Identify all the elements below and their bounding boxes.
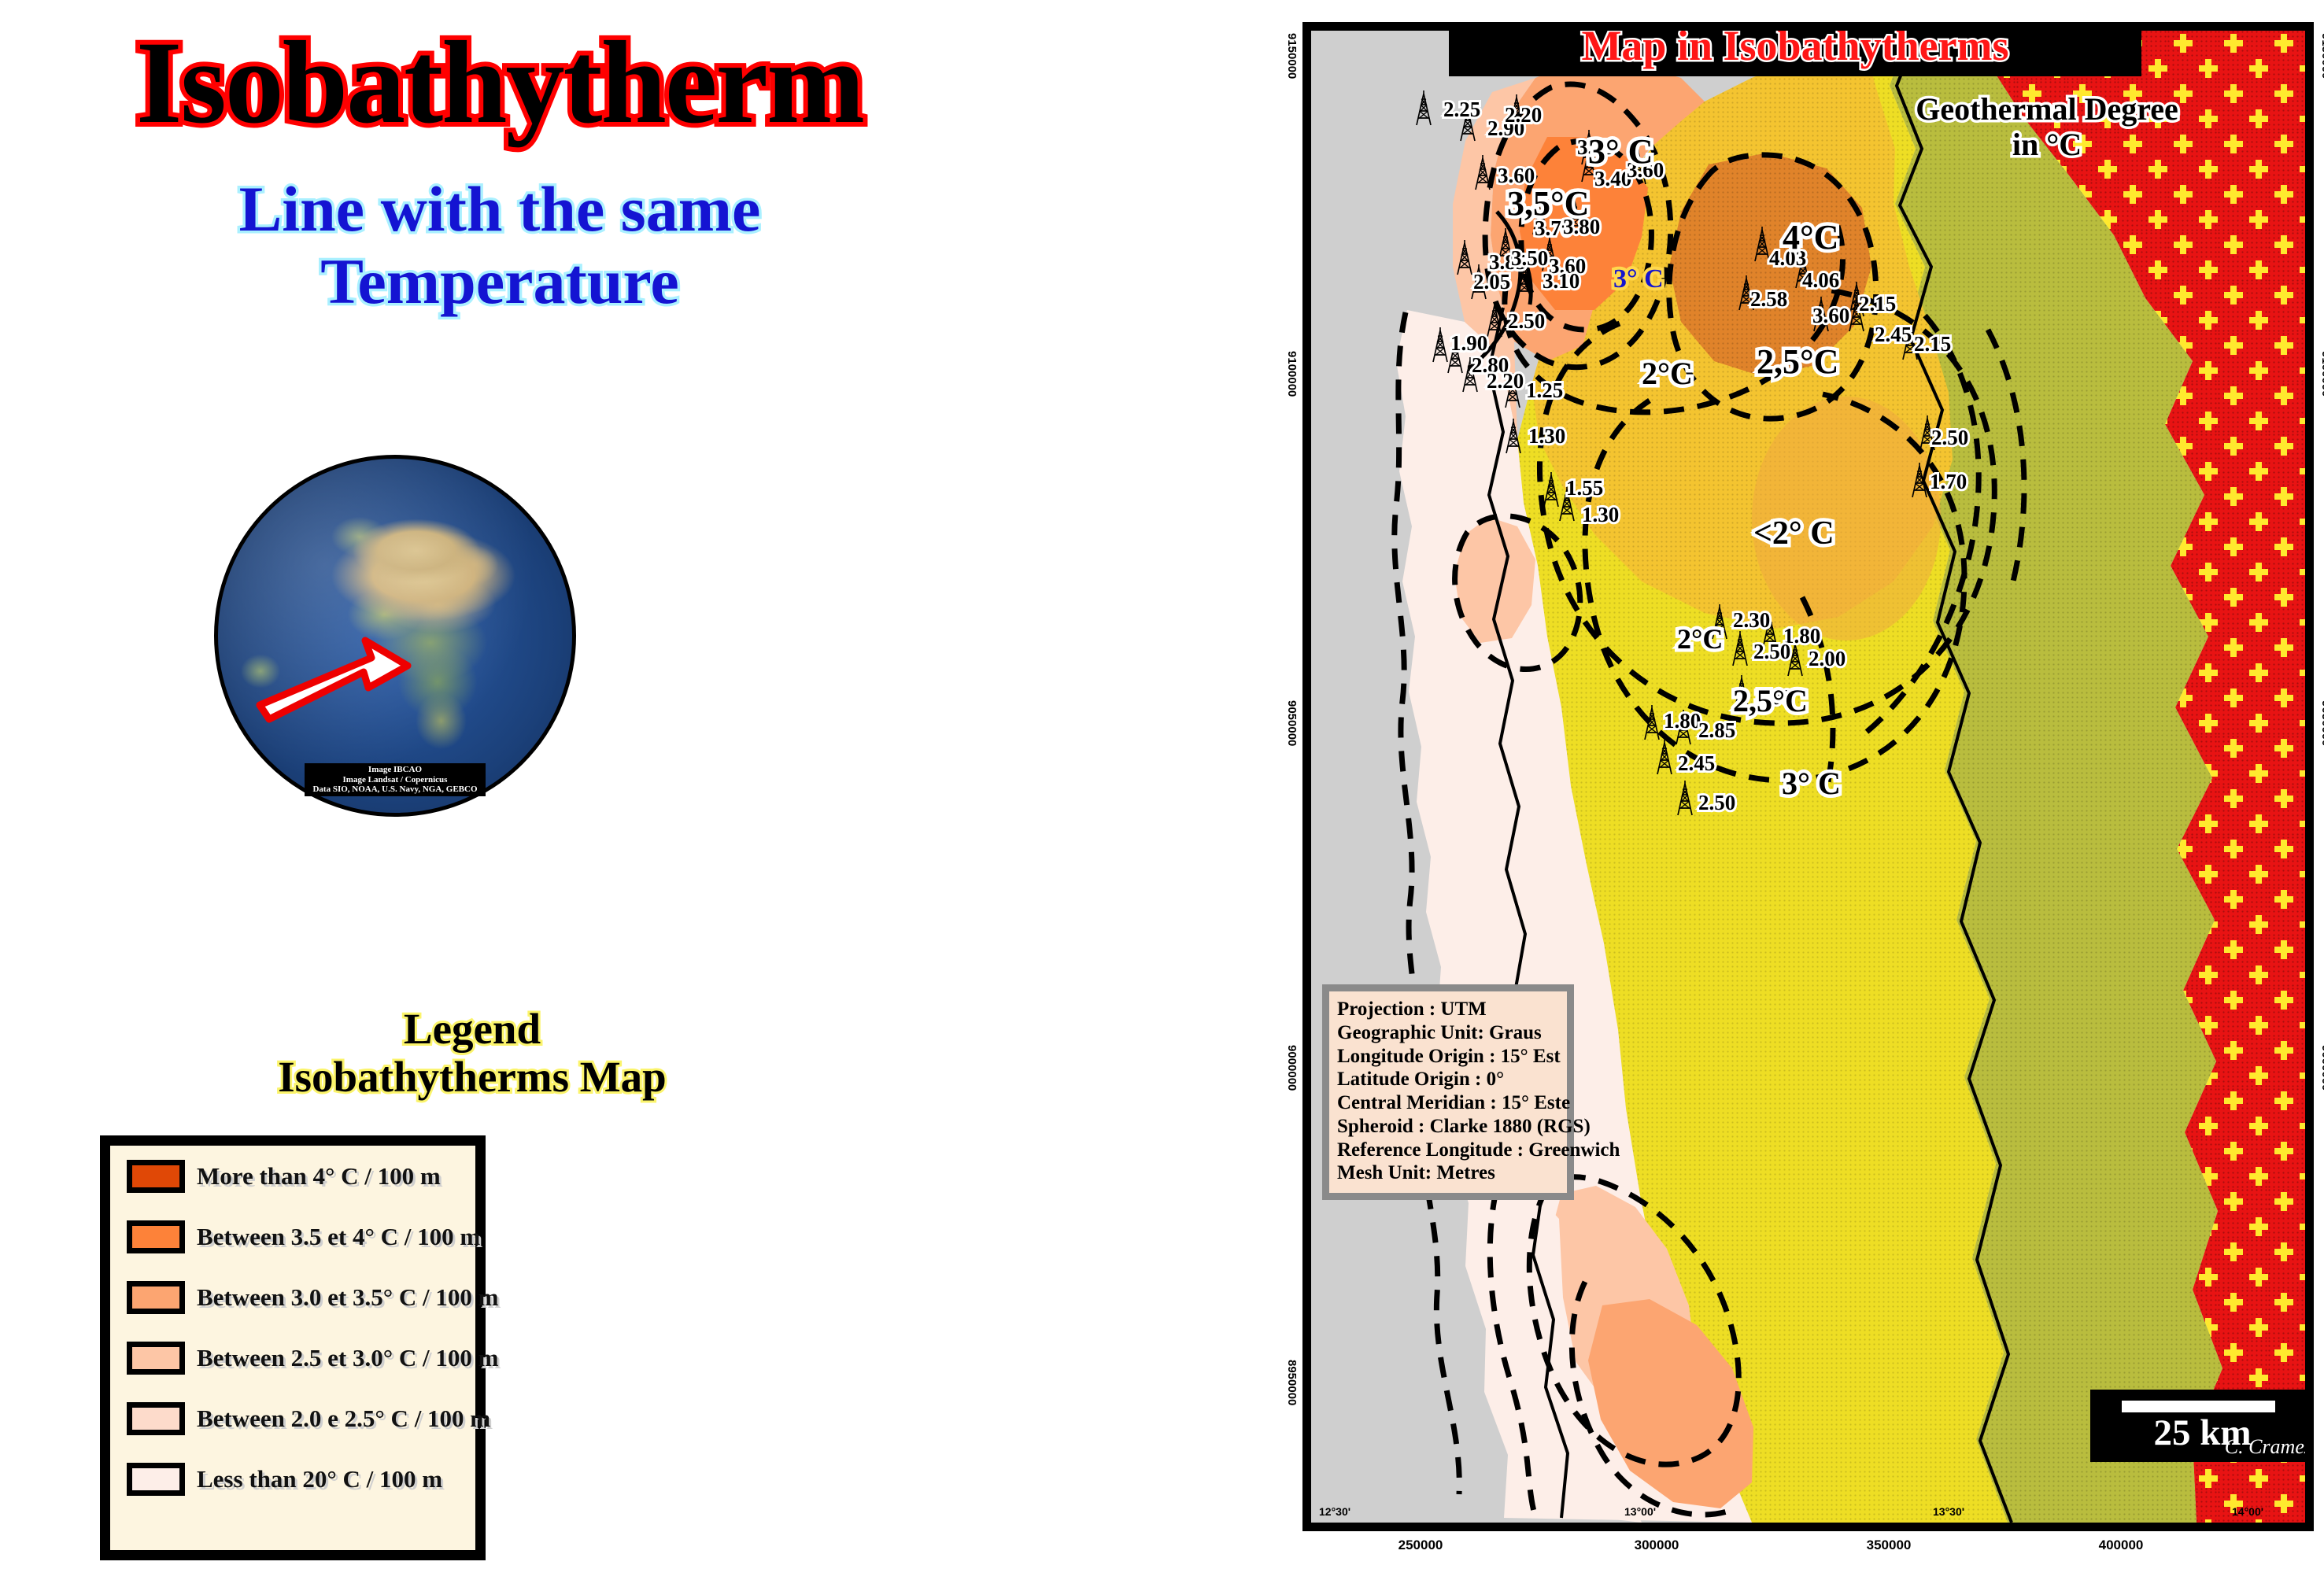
legend-color-swatch bbox=[127, 1342, 185, 1375]
isotherm-zone-label: 4°C bbox=[1783, 217, 1838, 257]
well-value-label: 2.50 bbox=[1931, 426, 1968, 450]
legend-color-swatch bbox=[127, 1463, 185, 1496]
well-value-label: 2.00 bbox=[1809, 647, 1846, 671]
well-value-label: 1.25 bbox=[1526, 378, 1563, 403]
axis-y-tick-label: 9000000 bbox=[1285, 1045, 1299, 1091]
info-line: Central Meridian : 15° Este bbox=[1337, 1091, 1559, 1115]
axis-y-tick-label: 9150000 bbox=[1285, 33, 1299, 79]
map-frame: Map in Isobathytherms Geothermal Degree … bbox=[1302, 22, 2314, 1531]
isotherm-zone-label: 2°C bbox=[1642, 355, 1693, 392]
axis-y-tick-label-right: 9150000 bbox=[2319, 33, 2324, 79]
oil-well-derrick-icon bbox=[1503, 418, 1524, 458]
axis-y-tick-label-right: 9100000 bbox=[2319, 351, 2324, 397]
info-line: Latitude Origin : 0° bbox=[1337, 1068, 1559, 1091]
legend-item: Between 2.0 e 2.5° C / 100 m bbox=[110, 1388, 475, 1449]
info-line: Projection : UTM bbox=[1337, 998, 1559, 1021]
axis-y-tick-label: 9100000 bbox=[1285, 351, 1299, 397]
oil-well-derrick-icon bbox=[1654, 739, 1675, 779]
globe-attribution: Image IBCAO Image Landsat / Copernicus D… bbox=[305, 763, 486, 796]
well-value-label: 1.90 bbox=[1450, 331, 1487, 356]
well-value-label: 2.58 bbox=[1750, 287, 1787, 312]
axis-x-tick-label: 300000 bbox=[1635, 1538, 1679, 1553]
projection-info-box: Projection : UTM Geographic Unit: Graus … bbox=[1322, 984, 1574, 1200]
degree-tick-x: 12°30' bbox=[1319, 1505, 1350, 1518]
oil-well-derrick-icon bbox=[1472, 154, 1493, 194]
map-title-text: Map in Isobathytherms bbox=[1581, 22, 2008, 70]
well-value-label: 1.70 bbox=[1930, 470, 1967, 494]
well-value-label: 2.05 bbox=[1473, 270, 1510, 294]
subtitle-line-2: Temperature bbox=[47, 245, 952, 318]
page-title: Isobathytherm bbox=[47, 24, 952, 142]
info-line: Geographic Unit: Graus bbox=[1337, 1021, 1559, 1045]
well-value-label: 1.55 bbox=[1566, 476, 1603, 500]
axis-y-tick-label: 8950000 bbox=[1285, 1360, 1299, 1405]
geothermal-degree-caption: Geothermal Degree in °C bbox=[1878, 92, 2216, 163]
legend-color-swatch bbox=[127, 1220, 185, 1253]
subtitle-line-1: Line with the same bbox=[47, 173, 952, 245]
legend-item-label: Between 2.0 e 2.5° C / 100 m bbox=[197, 1405, 490, 1433]
page-subtitle: Line with the same Temperature bbox=[47, 173, 952, 318]
axis-y-tick-label-right: 9000000 bbox=[2319, 1045, 2324, 1091]
well-value-label: 2.50 bbox=[1698, 791, 1735, 815]
legend-heading: Legend Isobathytherms Map bbox=[47, 1006, 897, 1101]
legend-item: Less than 20° C / 100 m bbox=[110, 1449, 475, 1509]
location-arrow-icon bbox=[214, 455, 576, 817]
degree-tick-x: 13°30' bbox=[1933, 1505, 1964, 1518]
axis-y-tick-label: 9050000 bbox=[1285, 700, 1299, 746]
degree-tick-x: 14°00' bbox=[2232, 1505, 2263, 1518]
well-value-label: 3.60 bbox=[1812, 304, 1849, 328]
oil-well-derrick-icon bbox=[1413, 90, 1434, 130]
legend-item-label: Between 3.5 et 4° C / 100 m bbox=[197, 1223, 480, 1251]
legend-item-label: More than 4° C / 100 m bbox=[197, 1162, 441, 1191]
geothermal-degree-line-2: in °C bbox=[1878, 127, 2216, 163]
well-value-label: 1.80 bbox=[1664, 709, 1701, 733]
legend-item-label: Between 2.5 et 3.0° C / 100 m bbox=[197, 1344, 498, 1372]
well-value-label: 2.85 bbox=[1698, 718, 1735, 743]
well-value-label: 2.15 bbox=[1914, 332, 1951, 356]
axis-x-tick-label: 250000 bbox=[1398, 1538, 1443, 1553]
author-signature: C. Cramez bbox=[2225, 1435, 2312, 1459]
axis-y-tick-label-right: 9050000 bbox=[2319, 700, 2324, 746]
isobathytherm-map-panel: Map in Isobathytherms Geothermal Degree … bbox=[1302, 22, 2314, 1556]
map-title-banner: Map in Isobathytherms bbox=[1449, 22, 2141, 76]
legend-color-swatch bbox=[127, 1281, 185, 1314]
map-scale-bar: 25 km C. Cramez bbox=[2090, 1390, 2314, 1462]
globe-illustration: Image IBCAO Image Landsat / Copernicus D… bbox=[214, 455, 576, 817]
well-value-label: 2.50 bbox=[1508, 309, 1545, 334]
oil-well-derrick-icon bbox=[1909, 462, 1930, 502]
well-value-label: 2.45 bbox=[1875, 323, 1912, 347]
legend-heading-line-1: Legend bbox=[47, 1006, 897, 1054]
globe-attribution-line-3: Data SIO, NOAA, U.S. Navy, NGA, GEBCO bbox=[305, 784, 486, 795]
legend-item: Between 2.5 et 3.0° C / 100 m bbox=[110, 1327, 475, 1388]
well-value-label: 2.50 bbox=[1753, 640, 1790, 664]
well-value-label: 2.20 bbox=[1487, 369, 1524, 393]
degree-tick-x: 13°00' bbox=[1624, 1505, 1656, 1518]
well-value-label: 1.30 bbox=[1528, 424, 1565, 449]
info-line: Spheroid : Clarke 1880 (RGS) bbox=[1337, 1115, 1559, 1139]
well-value-label: 2.30 bbox=[1733, 608, 1770, 633]
isotherm-zone-label: 3,5°C bbox=[1507, 183, 1589, 223]
legend-color-swatch bbox=[127, 1402, 185, 1435]
well-value-label: 2.20 bbox=[1505, 103, 1542, 127]
well-value-label: 4.06 bbox=[1802, 268, 1839, 293]
legend-item-label: Less than 20° C / 100 m bbox=[197, 1465, 442, 1493]
isotherm-zone-label: <2° C bbox=[1753, 515, 1834, 552]
legend-heading-line-2: Isobathytherms Map bbox=[47, 1054, 897, 1102]
well-value-label: 3.50 bbox=[1511, 246, 1548, 271]
isotherm-zone-label: 3° C bbox=[1782, 765, 1841, 802]
legend-color-swatch bbox=[127, 1160, 185, 1193]
legend-item: More than 4° C / 100 m bbox=[110, 1146, 475, 1206]
geothermal-degree-line-1: Geothermal Degree bbox=[1878, 92, 2216, 127]
info-line: Reference Longitude : Greenwich bbox=[1337, 1139, 1559, 1162]
isotherm-zone-label: 3° C bbox=[1613, 264, 1664, 294]
isotherm-zone-label: 2,5°C bbox=[1757, 341, 1838, 382]
axis-x-tick-label: 350000 bbox=[1867, 1538, 1912, 1553]
info-line: Mesh Unit: Metres bbox=[1337, 1161, 1559, 1185]
legend-item: Between 3.5 et 4° C / 100 m bbox=[110, 1206, 475, 1267]
axis-x-tick-label: 400000 bbox=[2099, 1538, 2144, 1553]
legend-item-label: Between 3.0 et 3.5° C / 100 m bbox=[197, 1283, 498, 1312]
info-line: Longitude Origin : 15° Est bbox=[1337, 1045, 1559, 1069]
globe-attribution-line-2: Image Landsat / Copernicus bbox=[305, 775, 486, 785]
well-value-label: 1.30 bbox=[1582, 503, 1619, 527]
isotherm-zone-label: 3° C bbox=[1588, 131, 1653, 172]
isotherm-zone-label: 2,5°C bbox=[1733, 682, 1808, 719]
isotherm-zone-label: 2°C bbox=[1677, 622, 1723, 655]
well-value-label: 2.25 bbox=[1443, 98, 1480, 122]
left-info-panel: Isobathytherm Line with the same Tempera… bbox=[0, 0, 1291, 1580]
legend-box: More than 4° C / 100 m Between 3.5 et 4°… bbox=[100, 1135, 486, 1560]
legend-item: Between 3.0 et 3.5° C / 100 m bbox=[110, 1267, 475, 1327]
well-value-label: 2.15 bbox=[1859, 292, 1896, 316]
oil-well-derrick-icon bbox=[1730, 630, 1750, 670]
globe-attribution-line-1: Image IBCAO bbox=[305, 765, 486, 775]
well-value-label: 3.10 bbox=[1543, 269, 1580, 293]
oil-well-derrick-icon bbox=[1675, 780, 1695, 820]
scale-bar-line bbox=[2122, 1401, 2275, 1412]
well-value-label: 2.45 bbox=[1678, 751, 1715, 776]
